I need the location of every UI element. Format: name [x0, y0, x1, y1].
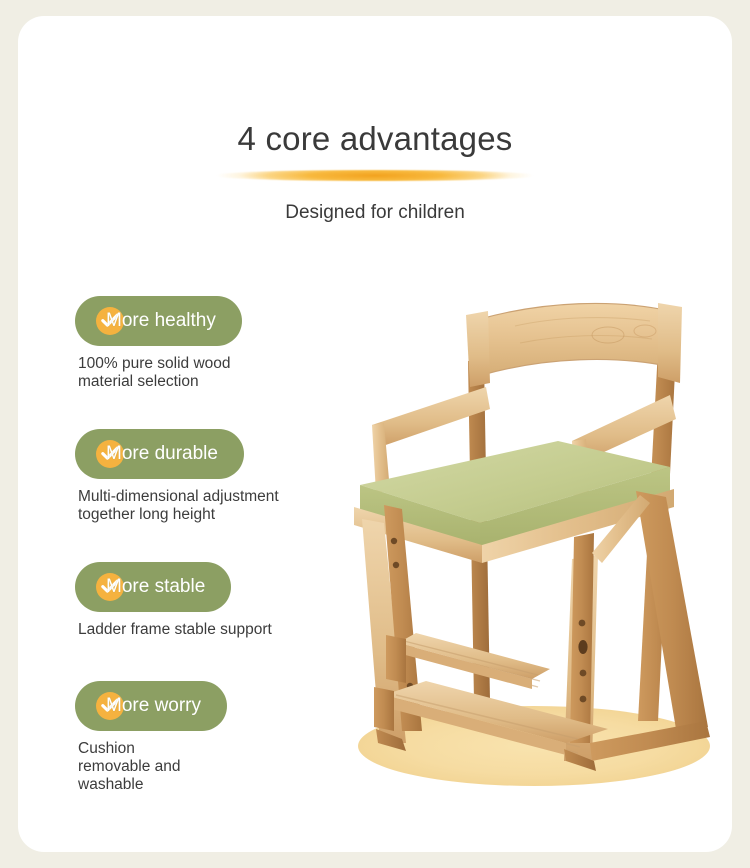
footrest-upper-bracket-left [386, 635, 406, 683]
feature-badge-label: More worry [106, 695, 201, 717]
chair-illustration [340, 291, 732, 806]
adjustment-hole [579, 620, 586, 627]
feature-item: More durable Multi-dimensional adjustmen… [75, 429, 375, 524]
footrest-lower-bracket-left [374, 687, 394, 731]
chair-back-post-left [466, 311, 490, 387]
feature-description: 100% pure solid wood material selection [78, 355, 375, 391]
feature-description: Cushion removable and washable [78, 740, 375, 794]
adjustment-hole [580, 696, 587, 703]
chair-back-post-right [658, 303, 682, 383]
adjustment-knob [578, 640, 587, 654]
title-underline-brushstroke [210, 170, 540, 181]
chair-backrest-panel [480, 303, 672, 375]
feature-badge-stable: More stable [75, 562, 231, 612]
feature-list: More healthy 100% pure solid wood materi… [75, 296, 375, 794]
title-underline-wrap [18, 164, 732, 186]
page-subtitle: Designed for children [18, 202, 732, 224]
feature-badge-label: More durable [106, 443, 218, 465]
page-title: 4 core advantages [18, 118, 732, 160]
adjustment-hole [393, 562, 399, 568]
feature-badge-label: More healthy [106, 310, 216, 332]
header: 4 core advantages Designed for children [18, 118, 732, 224]
infographic-page: 4 core advantages Designed for children … [0, 0, 750, 868]
content-card: 4 core advantages Designed for children … [18, 16, 732, 852]
feature-item: More healthy 100% pure solid wood materi… [75, 296, 375, 391]
adjustment-hole [391, 538, 397, 544]
feature-badge-label: More stable [106, 576, 205, 598]
feature-item: More stable Ladder frame stable support [75, 562, 375, 639]
feature-description: Ladder frame stable support [78, 621, 375, 639]
feature-badge-healthy: More healthy [75, 296, 242, 346]
feature-badge-worry: More worry [75, 681, 227, 731]
chair-adjust-rail-right [570, 533, 594, 743]
feature-badge-durable: More durable [75, 429, 244, 479]
product-image-chair [340, 291, 732, 806]
feature-item: More worry Cushion removable and washabl… [75, 681, 375, 794]
adjustment-hole [580, 670, 587, 677]
feature-description: Multi-dimensional adjustment together lo… [78, 488, 375, 524]
